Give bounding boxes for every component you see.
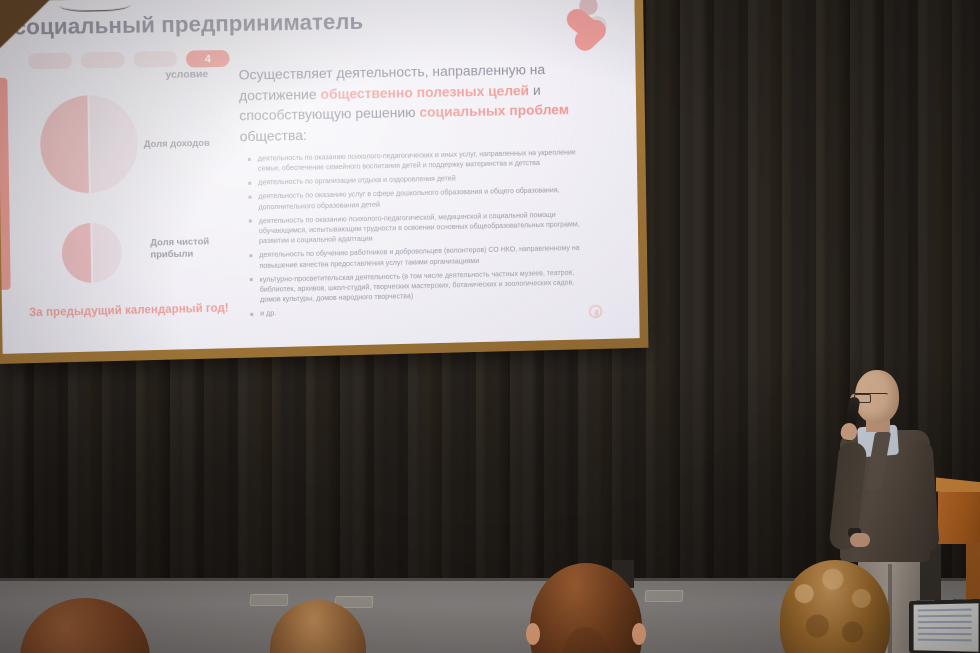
audience-head [270, 600, 366, 653]
step-pill-4-active: 4 [186, 50, 230, 68]
presenter-hand-holding-clicker [850, 533, 870, 547]
pie-slice-profit-b [91, 222, 122, 282]
slide-bullet-item: культурно-просветительская деятельность … [249, 267, 592, 306]
projection-screen-frame: социальный предприниматель 4 условие Дол… [0, 0, 648, 364]
audience-ear [526, 623, 540, 645]
audience-head [20, 598, 150, 653]
floor-vent [645, 590, 684, 602]
circle-badge-watermark-icon [589, 305, 603, 319]
laptop-screen-content [918, 608, 972, 645]
step-pill-1 [28, 53, 72, 70]
pie-slice-income-a [40, 95, 90, 194]
slide-bullet-item: деятельность по оказанию услуг в сфере д… [247, 185, 590, 213]
lead-part-3: общества: [240, 127, 307, 144]
audience-curly-hair [780, 560, 890, 653]
audience-laptop [905, 600, 980, 653]
pie-chart-net-profit [61, 222, 122, 283]
slide-bullet-list: деятельность по оказанию психолого-педаг… [247, 147, 592, 323]
step-caption: условие [165, 68, 208, 81]
condition-step-indicator: 4 [28, 50, 230, 70]
lead-highlight-1: общественно полезных целей [320, 83, 529, 103]
audience-hair [20, 598, 150, 653]
step-pill-2 [81, 52, 125, 69]
slide-title: социальный предприниматель [13, 9, 363, 41]
pie-chart-income-label: Доля доходов [144, 138, 210, 151]
slide-footnote: За предыдущий календарный год! [29, 303, 229, 320]
slide-bullet-item: деятельность по оказанию психолого-педаг… [248, 209, 591, 247]
audience-head [780, 560, 890, 653]
slide-bullet-item: деятельность по обучению работников и до… [248, 243, 591, 271]
pie-slice-profit-a [61, 223, 92, 284]
presentation-slide: социальный предприниматель 4 условие Дол… [0, 0, 640, 354]
projection-screen: социальный предприниматель 4 условие Дол… [0, 0, 640, 354]
audience-hair [270, 600, 366, 653]
photo-scene: социальный предприниматель 4 условие Дол… [0, 0, 980, 653]
step-pill-3 [133, 51, 177, 68]
slide-bullet-item: деятельность по оказанию психолого-педаг… [247, 147, 590, 174]
slide-accent-bar [0, 78, 11, 290]
audience-head [530, 563, 642, 653]
lead-highlight-2: социальных проблем [419, 102, 569, 121]
audience-ear [632, 623, 646, 645]
pie-chart-net-profit-label: Доля чистой прибыли [150, 236, 222, 261]
pie-label-line-2: прибыли [150, 248, 221, 262]
person-care-logo-icon [564, 0, 613, 54]
slide-lead-paragraph: Осуществляет деятельность, направленную … [239, 60, 585, 148]
pie-chart-income [40, 94, 139, 194]
pie-slice-income-b [88, 94, 138, 193]
